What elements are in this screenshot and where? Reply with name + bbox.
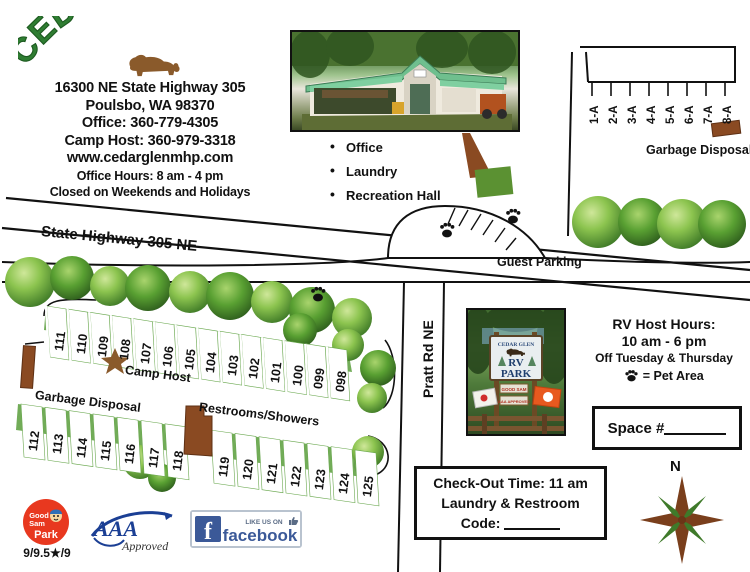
rv-host-hours-block: RV Host Hours: 10 am - 6 pm Off Tuesday … (578, 316, 750, 386)
site-label-5-a: 5-A (665, 105, 677, 124)
site-label-103: 103 (225, 354, 241, 376)
site-label-117: 117 (146, 446, 162, 468)
pratt-road-label: Pratt Rd NE (420, 320, 436, 398)
good-sam-sub-text: Sam (29, 519, 45, 528)
svg-text:PARK: PARK (501, 368, 532, 380)
office-phone: Office: 360-779-4305 (10, 115, 290, 133)
park-address-block: 16300 NE State Highway 305 Poulsbo, WA 9… (10, 80, 290, 200)
facebook-like-us-text: LIKE US ON (245, 519, 283, 526)
pet-area-legend: = Pet Area (578, 367, 750, 386)
good-sam-park-badge[interactable]: Good Sam Park (22, 498, 70, 546)
site-label-105: 105 (182, 348, 198, 370)
site-label-106: 106 (160, 345, 176, 367)
svg-text:AAA APPROVED: AAA APPROVED (498, 399, 530, 404)
guest-parking-lot (388, 206, 545, 258)
caption-item-laundry: Laundry (330, 164, 510, 179)
site-label-114: 114 (74, 437, 90, 459)
garbage-disposal-bin-left (21, 342, 44, 388)
site-label-8-a: 8-A (722, 105, 734, 124)
rv-host-title: RV Host Hours: (578, 316, 750, 333)
site-label-120: 120 (240, 459, 256, 481)
camp-host-phone: Camp Host: 360-979-3318 (10, 133, 290, 151)
site-label-116: 116 (122, 443, 138, 465)
good-sam-park-text: Park (34, 529, 59, 541)
bear-icon (129, 55, 179, 76)
site-label-1-a: 1-A (589, 105, 601, 124)
site-label-112: 112 (26, 430, 42, 452)
site-label-124: 124 (336, 472, 352, 494)
aaa-approved-text: Approved (121, 539, 169, 552)
svg-text:GOOD SAM: GOOD SAM (501, 387, 526, 392)
site-label-101: 101 (268, 361, 284, 383)
rv-host-off-days: Off Tuesday & Thursday (578, 350, 750, 367)
good-sam-face-icon (50, 510, 62, 523)
site-label-108: 108 (117, 339, 133, 361)
garbage-disposal-label-top: Garbage Disposal (646, 143, 750, 157)
tree-cluster-right (572, 196, 746, 249)
site-label-121: 121 (264, 462, 280, 484)
checkout-time-line: Check-Out Time: 11 am (433, 473, 588, 493)
site-label-123: 123 (312, 469, 328, 491)
site-label-118: 118 (170, 450, 186, 472)
laundry-restroom-line: Laundry & Restroom (441, 493, 579, 513)
space-number-box[interactable]: Space # (592, 406, 742, 450)
office-photo-caption-list: Office Laundry Recreation Hall (330, 140, 510, 212)
address-line-2: Poulsbo, WA 98370 (10, 98, 290, 116)
code-label: Code: (461, 515, 501, 531)
pet-area-text: = Pet Area (643, 369, 704, 383)
facebook-wordmark: facebook (223, 526, 298, 545)
svg-text:CEDAR GLEN: CEDAR GLEN (498, 342, 535, 348)
aaa-approved-logo[interactable]: AAA Approved (88, 506, 182, 552)
site-label-110: 110 (74, 333, 90, 355)
facebook-badge[interactable]: f LIKE US ON facebook (190, 510, 302, 548)
site-label-104: 104 (203, 351, 219, 373)
code-blank[interactable] (504, 528, 560, 530)
site-label-111: 111 (52, 331, 68, 352)
space-number-blank[interactable] (664, 433, 726, 435)
site-label-2-a: 2-A (608, 105, 620, 124)
paw-print-icon (624, 368, 639, 382)
compass-rose: N (636, 458, 732, 564)
space-number-label: Space # (608, 420, 665, 437)
office-building-photo (290, 30, 520, 132)
aaa-text: AAA (92, 516, 138, 541)
site-label-122: 122 (288, 465, 304, 487)
website-url[interactable]: www.cedarglenmhp.com (10, 150, 290, 168)
good-sam-rating: 9/9.5★/9 (18, 546, 76, 560)
compass-north-label: N (670, 458, 681, 475)
rv-host-hours: 10 am - 6 pm (578, 333, 750, 350)
site-label-109: 109 (95, 336, 111, 358)
site-label-098: 098 (333, 370, 349, 392)
site-label-3-a: 3-A (627, 105, 639, 124)
caption-item-recreation-hall: Recreation Hall (330, 188, 510, 203)
closed-days: Closed on Weekends and Holidays (10, 184, 290, 200)
guest-parking-label: Guest Parking (497, 255, 582, 269)
facebook-f-glyph: f (204, 519, 213, 545)
rv-park-sign-photo: CEDAR GLEN RV PARK GOOD SAM AAA APPROVED (466, 308, 566, 436)
checkout-info-box: Check-Out Time: 11 am Laundry & Restroom… (414, 466, 607, 540)
park-logo: CEDAR GLEN (18, 16, 286, 80)
site-label-6-a: 6-A (684, 105, 696, 124)
site-label-100: 100 (290, 364, 306, 386)
a-row-dividers (592, 82, 725, 96)
site-label-7-a: 7-A (703, 105, 715, 124)
caption-item-office: Office (330, 140, 510, 155)
site-label-125: 125 (360, 475, 376, 497)
address-line-1: 16300 NE State Highway 305 (10, 80, 290, 98)
site-label-119: 119 (216, 456, 232, 478)
office-hours: Office Hours: 8 am - 4 pm (10, 168, 290, 184)
site-label-113: 113 (50, 433, 66, 455)
site-label-4-a: 4-A (646, 105, 658, 124)
site-label-115: 115 (98, 440, 114, 462)
site-label-099: 099 (311, 367, 327, 389)
